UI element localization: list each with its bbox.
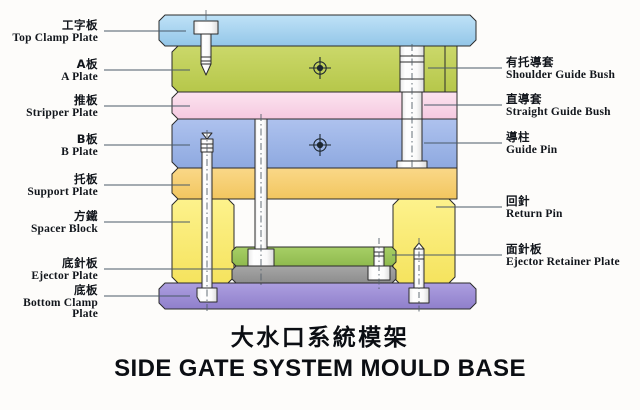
label-bottom-clamp-plate: 底板 Bottom Clamp Plate (0, 285, 98, 321)
label-spacer-block-cn: 方鐵 (31, 211, 98, 223)
label-spacer-block-en: Spacer Block (31, 224, 98, 236)
label-b-plate-en: B Plate (61, 147, 98, 159)
page-title: 大水口系統模架 SIDE GATE SYSTEM MOULD BASE (0, 318, 640, 383)
label-support-plate: 托板 Support Plate (27, 174, 98, 198)
label-support-plate-cn: 托板 (27, 174, 98, 186)
label-stripper-plate-cn: 推板 (26, 95, 98, 107)
label-shoulder-guide-bush: 有托導套 Shoulder Guide Bush (506, 57, 615, 81)
label-guide-pin: 導柱 Guide Pin (506, 132, 557, 156)
label-top-clamp-plate-en: Top Clamp Plate (12, 33, 98, 45)
label-shoulder-guide-bush-en: Shoulder Guide Bush (506, 70, 615, 82)
plate-support (172, 168, 457, 199)
cap-screw-a-head (194, 21, 218, 34)
label-top-clamp-plate: 工字板 Top Clamp Plate (12, 20, 98, 44)
guide-pin-shaft (402, 119, 422, 161)
page-title-english: SIDE GATE SYSTEM MOULD BASE (0, 355, 640, 383)
label-guide-pin-en: Guide Pin (506, 145, 557, 157)
label-guide-pin-cn: 導柱 (506, 132, 557, 144)
cap-screw-a-shank (201, 34, 211, 64)
label-bottom-clamp-plate-cn: 底板 (0, 285, 98, 297)
label-b-plate: B板 B Plate (61, 134, 98, 158)
label-b-plate-cn: B板 (61, 134, 98, 146)
label-straight-guide-bush-en: Straight Guide Bush (506, 107, 611, 119)
label-return-pin: 回針 Return Pin (506, 196, 563, 220)
label-stripper-plate-en: Stripper Plate (26, 108, 98, 120)
label-ejector-retainer-plate-en: Ejector Retainer Plate (506, 257, 620, 269)
label-a-plate-cn: A板 (61, 59, 98, 71)
label-a-plate-en: A Plate (61, 72, 98, 84)
label-spacer-block: 方鐵 Spacer Block (31, 211, 98, 235)
label-stripper-plate: 推板 Stripper Plate (26, 95, 98, 119)
label-straight-guide-bush: 直導套 Straight Guide Bush (506, 94, 611, 118)
label-ejector-retainer-plate: 面針板 Ejector Retainer Plate (506, 244, 620, 268)
label-ejector-plate: 底針板 Ejector Plate (31, 258, 98, 282)
label-top-clamp-plate-cn: 工字板 (12, 20, 98, 32)
label-ejector-plate-cn: 底針板 (31, 258, 98, 270)
plate-a-right-wing (445, 46, 457, 92)
label-straight-guide-bush-cn: 直導套 (506, 94, 611, 106)
page-title-chinese: 大水口系統模架 (0, 318, 640, 352)
label-ejector-retainer-plate-cn: 面針板 (506, 244, 620, 256)
label-return-pin-cn: 回針 (506, 196, 563, 208)
label-ejector-plate-en: Ejector Plate (31, 271, 98, 283)
label-a-plate: A板 A Plate (61, 59, 98, 83)
label-return-pin-en: Return Pin (506, 209, 563, 221)
diagram-canvas: 工字板 Top Clamp Plate A板 A Plate 推板 Stripp… (0, 0, 640, 410)
label-shoulder-guide-bush-cn: 有托導套 (506, 57, 615, 69)
label-support-plate-en: Support Plate (27, 187, 98, 199)
